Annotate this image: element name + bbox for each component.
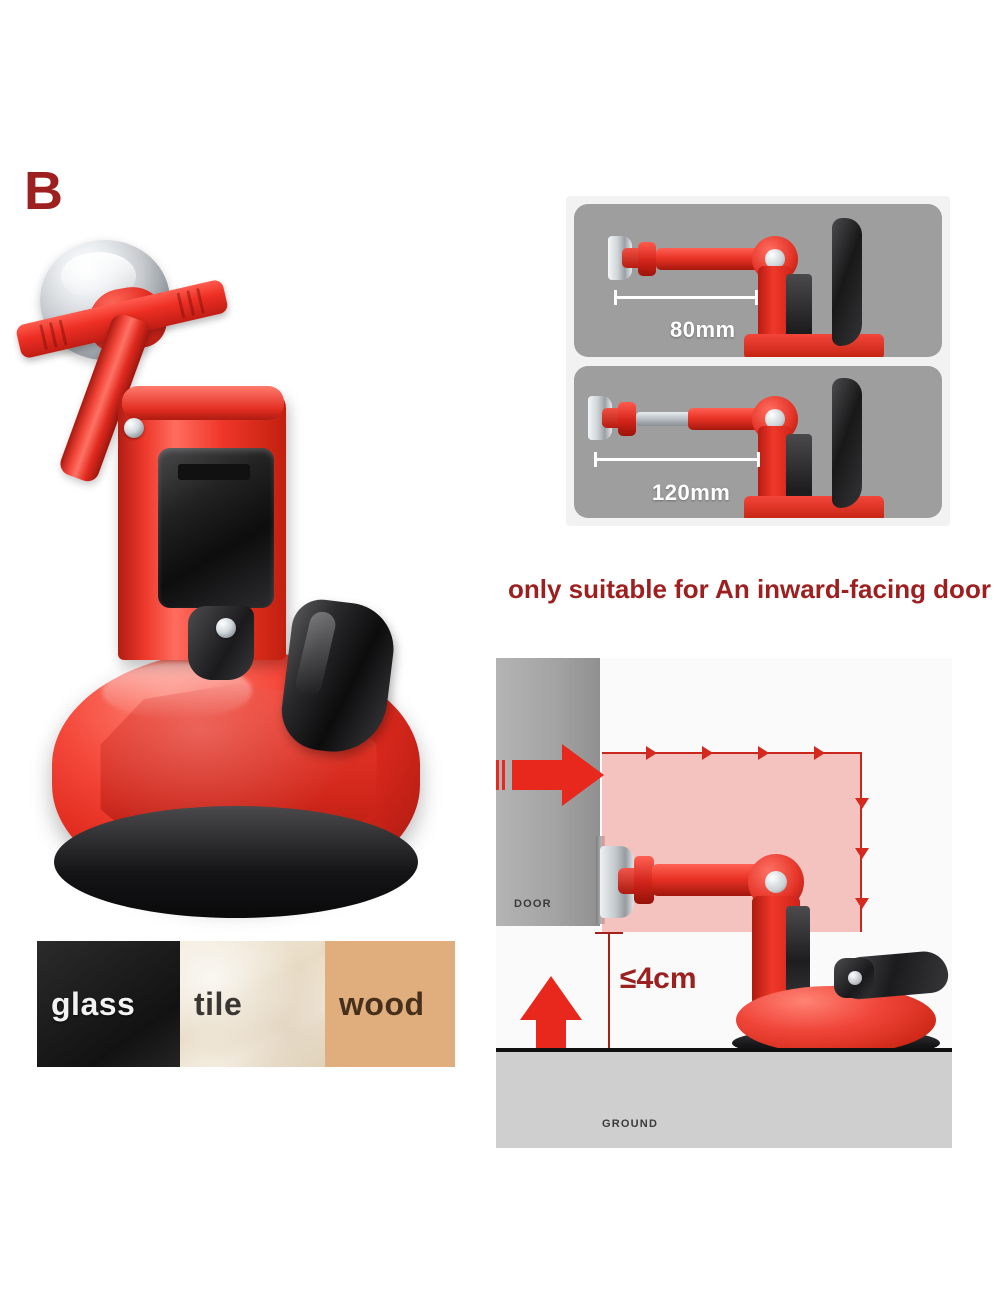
swatch-glass-label: glass [37,986,135,1023]
swatch-wood-label: wood [325,986,425,1023]
product-photo [10,210,450,860]
compatible-surfaces: glass tile wood [37,941,455,1067]
product-infographic-page: B 80mm [0,0,1000,1300]
mini-sucker-icon [608,236,632,280]
arrow-right-door-push [512,744,604,806]
swing-arrow-right-2 [702,746,713,760]
swatch-tile-label: tile [180,986,242,1023]
swing-arrow-right-3 [758,746,769,760]
extension-caption-80: 80mm [670,317,736,343]
mini-adjust-nut [638,242,656,276]
black-recess [158,448,274,608]
mini-arm [656,248,764,270]
notice-heading: only suitable for An inward-facing door [508,572,996,607]
diagram-suction-cup [736,986,936,1054]
bracket-top-lip [122,386,284,420]
ground-label: GROUND [602,1118,658,1130]
clearance-measure-line [608,932,610,1050]
cup-black-rim [54,806,418,918]
diagram-lever-knob [834,958,874,998]
extension-caption-120: 120mm [652,480,730,506]
swing-arrow-down-1 [855,798,869,809]
lever-pivot-knob [188,606,254,680]
mini-sucker-icon [588,396,612,440]
swatch-wood: wood [325,941,455,1067]
door-swing-area [602,752,862,932]
diagram-black-box [786,906,810,998]
mini-base [744,334,884,357]
diagram-sucker-pad [600,846,634,918]
dimension-line-80 [614,296,758,299]
mini-base [744,496,884,519]
panel-extended: 120mm [574,366,942,519]
swing-arrow-right-4 [814,746,825,760]
clearance-label: ≤4cm [620,962,697,996]
swing-arrow-down-3 [855,898,869,909]
panel-retracted: 80mm [574,204,942,357]
dimension-line-120 [594,458,760,461]
mini-black-lever [832,378,862,508]
extension-range-frame: 80mm 120mm [566,196,950,526]
swing-arrow-right-1 [646,746,657,760]
swatch-tile: tile [180,941,325,1067]
ground-band [496,1052,952,1148]
chrome-bolt-upper [124,418,144,438]
mini-black-lever [832,218,862,346]
swing-arrow-down-2 [855,848,869,859]
diagram-adjust-nut [634,856,654,904]
inward-facing-door-clearance-diagram: DOOR ≤4cm GROUND [496,658,952,1148]
chrome-bolt-lower [216,618,236,638]
mini-extension-rod [636,412,692,426]
swatch-glass: glass [37,941,180,1067]
mini-adjust-nut [618,402,636,436]
door-label: DOOR [514,898,552,910]
